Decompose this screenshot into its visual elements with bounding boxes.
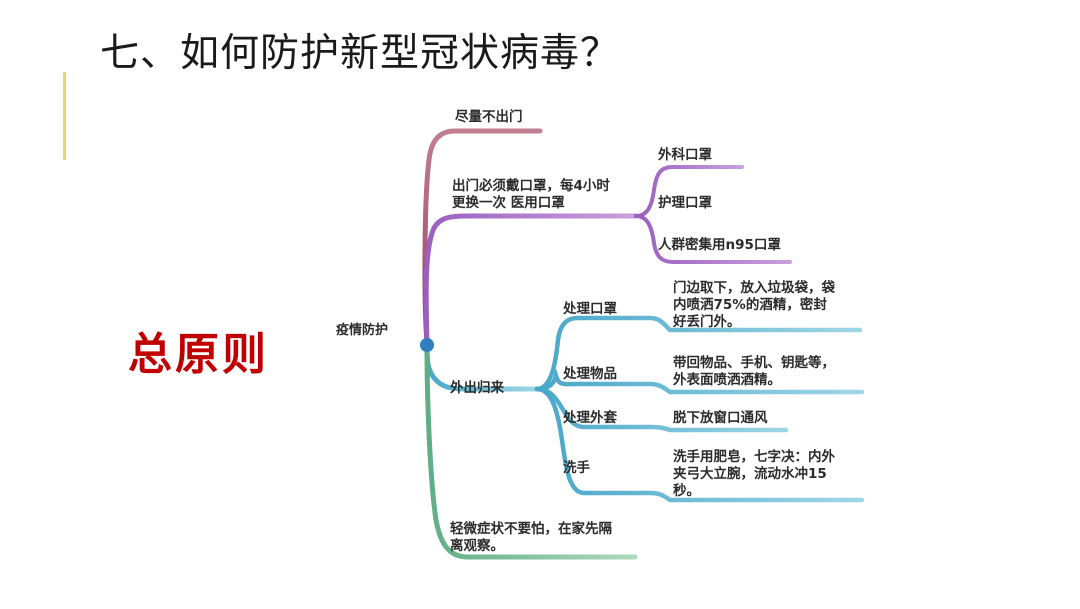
branch-wear-mask <box>426 216 636 345</box>
node-label-handle-items: 处理物品 <box>563 366 617 383</box>
node-detail-handle-coat: 脱下放窗口通风 <box>673 410 768 427</box>
node-detail-handle-items: 带回物品、手机、钥匙等， 外表面喷洒酒精。 <box>673 355 835 389</box>
mindmap-diagram <box>0 0 1080 609</box>
branch-stay-home <box>425 131 540 344</box>
node-label-handle-mask: 处理口罩 <box>563 301 617 318</box>
root-node-dot[interactable] <box>420 338 434 352</box>
node-label-stay-home: 尽量不出门 <box>455 109 523 126</box>
slide-canvas: 七、如何防护新型冠状病毒？ 总原则 <box>0 0 1080 609</box>
node-detail-wash-hands: 洗手用肥皂，七字决：内外 夹弓大立腕，流动水冲15 秒。 <box>673 449 835 500</box>
node-label-nursing-mask: 护理口罩 <box>658 195 712 212</box>
node-label-surgical-mask: 外科口罩 <box>658 147 712 164</box>
node-detail-handle-mask: 门边取下，放入垃圾袋，袋 内喷洒75%的酒精，密封 好丢门外。 <box>673 280 835 331</box>
node-label-returning-home: 外出归来 <box>450 380 504 397</box>
node-label-wash-hands: 洗手 <box>563 460 590 477</box>
node-label-n95-mask: 人群密集用n95口罩 <box>658 237 781 254</box>
node-label-mild-symptoms: 轻微症状不要怕，在家先隔 离观察。 <box>450 521 612 555</box>
node-label-root: 疫情防护 <box>336 322 388 339</box>
node-label-handle-coat: 处理外套 <box>563 410 617 427</box>
node-label-wear-mask: 出门必须戴口罩，每4小时 更换一次 医用口罩 <box>452 178 610 212</box>
